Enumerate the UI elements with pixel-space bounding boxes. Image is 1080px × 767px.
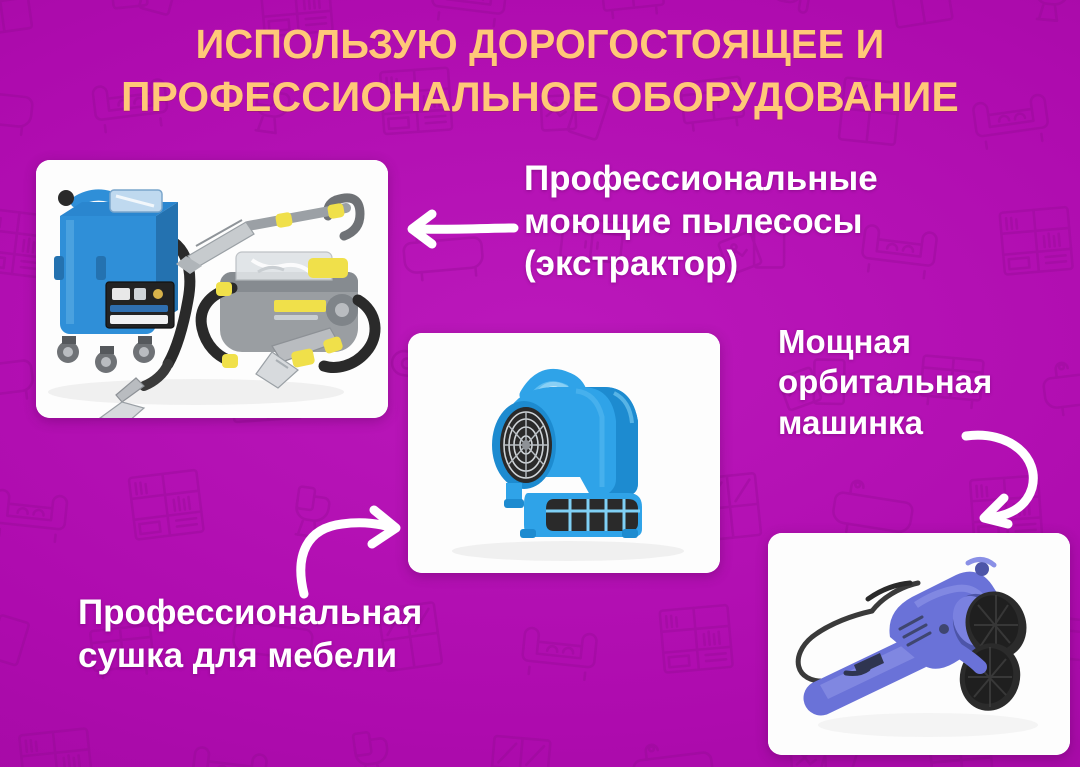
page-title: ИСПОЛЬЗУЮ ДОРОГОСТОЯЩЕЕ И ПРОФЕССИОНАЛЬН… — [16, 18, 1064, 124]
callout-orbital-line-2: орбитальная — [778, 362, 1078, 402]
page-title-line-2: ПРОФЕССИОНАЛЬНОЕ ОБОРУДОВАНИЕ — [16, 70, 1064, 124]
poster-canvas: ИСПОЛЬЗУЮ ДОРОГОСТОЯЩЕЕ И ПРОФЕССИОНАЛЬН… — [0, 0, 1080, 767]
callout-dryer-line-2: сушка для мебели — [78, 635, 498, 678]
photo-card-extractor — [36, 160, 388, 418]
arrow-left-icon — [400, 198, 524, 260]
callout-extractor-line-2: моющие пылесосы — [524, 201, 924, 244]
orbital-photo — [768, 533, 1070, 755]
photo-card-orbital — [768, 533, 1070, 755]
callout-extractor-label: Профессиональные моющие пылесосы (экстра… — [524, 158, 924, 286]
callout-extractor-line-1: Профессиональные — [524, 158, 924, 201]
callout-orbital-line-1: Мощная — [778, 322, 1078, 362]
photo-card-blower — [408, 333, 720, 573]
arrow-curved-down-left-icon — [952, 424, 1060, 532]
callout-extractor-line-3: (экстрактор) — [524, 243, 924, 286]
page-title-line-1: ИСПОЛЬЗУЮ ДОРОГОСТОЯЩЕЕ И — [16, 18, 1064, 70]
callout-dryer-line-1: Профессиональная — [78, 592, 498, 635]
extractor-photo — [36, 160, 388, 418]
callout-dryer-label: Профессиональная сушка для мебели — [78, 592, 498, 677]
arrow-curved-up-right-icon — [288, 502, 412, 598]
blower-photo — [408, 333, 720, 573]
